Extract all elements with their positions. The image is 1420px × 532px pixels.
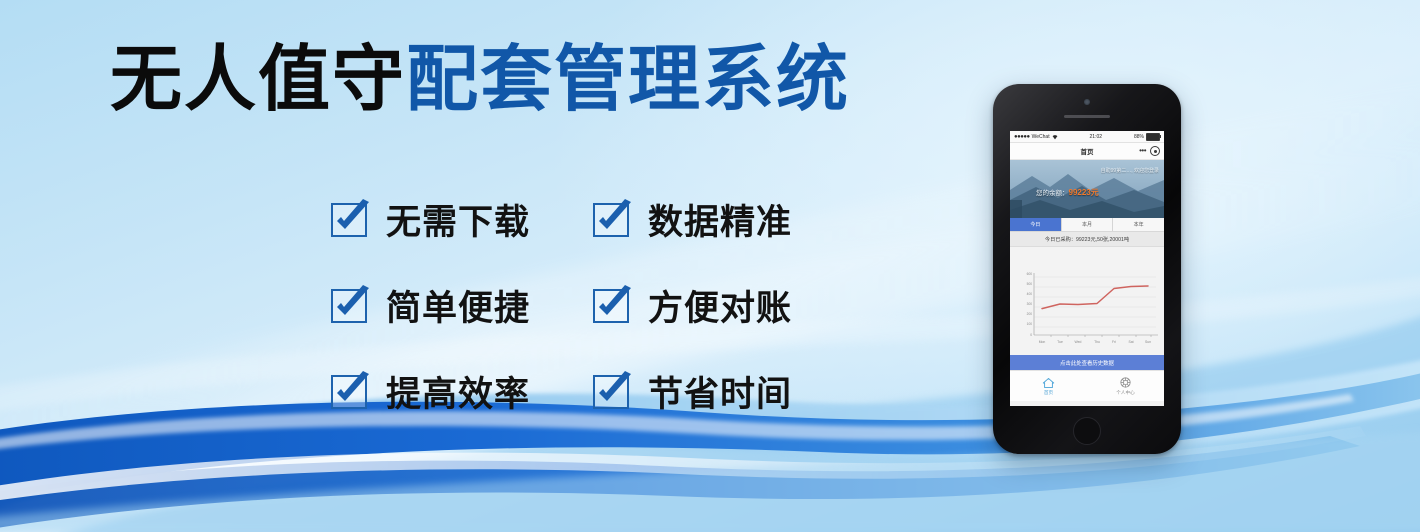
- checkbox-checked-icon: [592, 285, 634, 325]
- svg-text:200: 200: [1027, 312, 1033, 316]
- feature-label: 无需下载: [386, 194, 530, 245]
- battery-icon: [1146, 133, 1160, 141]
- svg-text:Mon: Mon: [1039, 340, 1046, 344]
- svg-text:400: 400: [1027, 292, 1033, 296]
- earpiece-speaker: [1064, 115, 1110, 118]
- feature-item: 无需下载: [330, 176, 592, 262]
- title-blue-part: 配套管理系统: [406, 40, 850, 120]
- period-tabs: 今日 本月 本年: [1010, 218, 1164, 232]
- ellipsis-icon[interactable]: •••: [1139, 147, 1146, 155]
- svg-text:Fri: Fri: [1112, 340, 1116, 344]
- balance-label: 您的余额：: [1036, 190, 1069, 197]
- svg-text:500: 500: [1027, 282, 1033, 286]
- home-button[interactable]: [1073, 417, 1101, 445]
- clock-label: 21:02: [1090, 134, 1103, 140]
- battery-percent-label: 88%: [1134, 134, 1144, 140]
- bottom-nav-profile[interactable]: 个人中心: [1087, 371, 1164, 401]
- feature-item: 方便对账: [592, 262, 850, 348]
- balance-amount: 99223元: [1069, 188, 1099, 197]
- feature-item: 简单便捷: [330, 262, 592, 348]
- bottom-nav-home-label: 首页: [1044, 390, 1053, 396]
- nav-title: 首页: [1081, 146, 1094, 156]
- checkbox-checked-icon: [330, 199, 372, 239]
- svg-text:Thu: Thu: [1094, 340, 1100, 344]
- svg-text:0: 0: [1030, 333, 1032, 337]
- svg-text:Sun: Sun: [1145, 340, 1151, 344]
- checkbox-checked-icon: [330, 285, 372, 325]
- signal-dots-icon: ●●●●●: [1014, 134, 1030, 140]
- phone-screen: ●●●●● WeChat 21:02 88% 首页 •••: [1010, 131, 1164, 406]
- feature-label: 简单便捷: [386, 280, 530, 331]
- checkbox-checked-icon: [592, 199, 634, 239]
- feature-list: 无需下载 数据精准 简单便捷 方便对账: [330, 176, 850, 434]
- balance-row: 您的余额：99223元: [1036, 187, 1099, 198]
- checkbox-checked-icon: [592, 371, 634, 411]
- svg-text:300: 300: [1027, 302, 1033, 306]
- target-icon[interactable]: [1150, 146, 1160, 156]
- svg-text:100: 100: [1027, 322, 1033, 326]
- feature-item: 节省时间: [592, 348, 850, 434]
- line-chart: 600 500 400 300 200 100 0 Mon Tue Wed Th…: [1010, 247, 1164, 355]
- page-title: 无人值守配套管理系统: [0, 44, 960, 116]
- bottom-nav-profile-label: 个人中心: [1116, 390, 1134, 396]
- title-black-part: 无人值守: [110, 40, 406, 120]
- feature-item: 提高效率: [330, 348, 592, 434]
- view-history-button[interactable]: 点击此处查看历史数据: [1010, 355, 1164, 370]
- phone-mockup: ●●●●● WeChat 21:02 88% 首页 •••: [993, 84, 1181, 454]
- feature-item: 数据精准: [592, 176, 850, 262]
- tab-month[interactable]: 本月: [1062, 218, 1114, 231]
- tab-today[interactable]: 今日: [1010, 218, 1062, 231]
- app-nav-bar: 首页 •••: [1010, 143, 1164, 160]
- wifi-icon: [1052, 134, 1058, 140]
- feature-label: 提高效率: [386, 366, 530, 417]
- feature-label: 方便对账: [648, 280, 792, 331]
- checkbox-checked-icon: [330, 371, 372, 411]
- feature-label: 节省时间: [648, 366, 792, 417]
- welcome-text: 自助99第二…, 欢迎您登录: [1101, 167, 1159, 174]
- tab-year[interactable]: 本年: [1113, 218, 1164, 231]
- svg-text:Tue: Tue: [1057, 340, 1063, 344]
- svg-text:600: 600: [1027, 272, 1033, 276]
- bottom-nav-home[interactable]: 首页: [1010, 371, 1087, 401]
- bottom-navigation: 首页: [1010, 370, 1164, 401]
- purchase-summary-text: 今日已采购：99223元,50张,20001吨: [1010, 232, 1164, 247]
- carrier-label: WeChat: [1032, 134, 1050, 140]
- feature-label: 数据精准: [648, 194, 792, 245]
- svg-text:Sat: Sat: [1128, 340, 1133, 344]
- svg-text:Wed: Wed: [1075, 340, 1082, 344]
- promo-banner: 无人值守配套管理系统 无需下载 数据精准 简单便捷: [0, 0, 1420, 532]
- gear-icon: [1119, 376, 1132, 389]
- status-bar: ●●●●● WeChat 21:02 88%: [1010, 131, 1164, 143]
- home-icon: [1042, 377, 1055, 389]
- front-camera-icon: [1084, 99, 1090, 105]
- hero-banner: 自助99第二…, 欢迎您登录 您的余额：99223元: [1010, 160, 1164, 218]
